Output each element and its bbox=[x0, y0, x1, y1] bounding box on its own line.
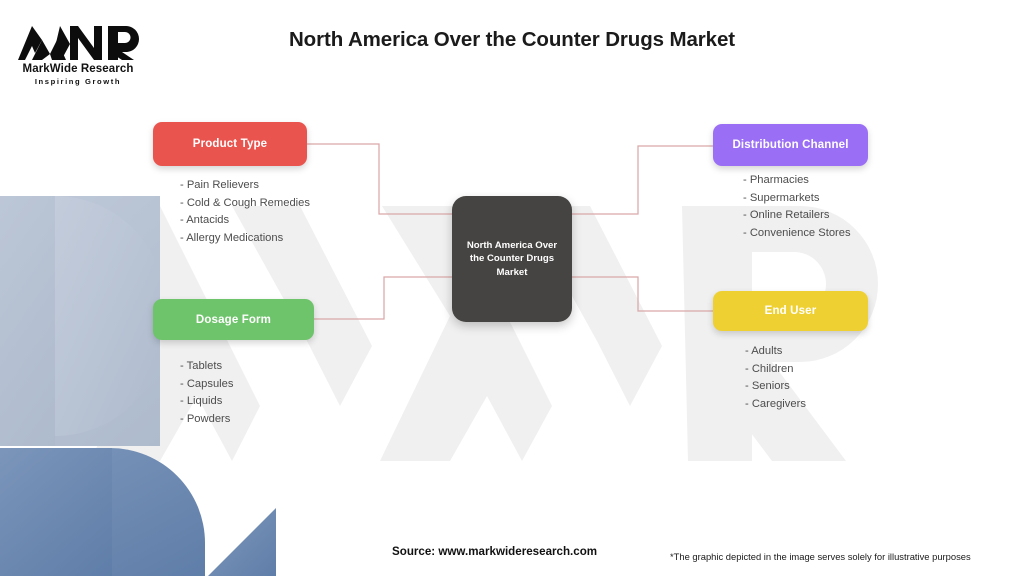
list-item: - Powders bbox=[180, 411, 233, 429]
list-item: - Adults bbox=[745, 343, 806, 361]
list-distribution-channel: - Pharmacies - Supermarkets - Online Ret… bbox=[743, 172, 851, 242]
list-item: - Cold & Cough Remedies bbox=[180, 195, 310, 213]
connector-distribution-channel bbox=[572, 146, 713, 214]
list-item: - Pharmacies bbox=[743, 172, 851, 190]
list-product-type: - Pain Relievers - Cold & Cough Remedies… bbox=[180, 177, 310, 247]
node-product-type-label: Product Type bbox=[193, 138, 267, 150]
source-note[interactable]: Source: www.markwideresearch.com bbox=[392, 545, 597, 558]
list-item: - Children bbox=[745, 361, 806, 379]
decorative-shape-dark bbox=[0, 448, 280, 576]
list-item: - Liquids bbox=[180, 393, 233, 411]
node-center-line-1: North America Over bbox=[467, 239, 557, 253]
connector-product-type bbox=[307, 144, 452, 214]
list-item: - Antacids bbox=[180, 212, 310, 230]
list-dosage-form: - Tablets - Capsules - Liquids - Powders bbox=[180, 358, 233, 428]
connector-end-user bbox=[572, 277, 713, 311]
brand-name: MarkWide Research bbox=[16, 63, 140, 75]
list-item: - Pain Relievers bbox=[180, 177, 310, 195]
list-item: - Convenience Stores bbox=[743, 225, 851, 243]
node-distribution-channel[interactable]: Distribution Channel bbox=[713, 124, 868, 166]
node-dosage-form-label: Dosage Form bbox=[196, 314, 271, 326]
infographic-canvas: MarkWide Research Inspiring Growth North… bbox=[0, 0, 1024, 576]
list-item: - Caregivers bbox=[745, 396, 806, 414]
list-item: - Online Retailers bbox=[743, 207, 851, 225]
page-title: North America Over the Counter Drugs Mar… bbox=[0, 28, 1024, 52]
list-item: - Capsules bbox=[180, 376, 233, 394]
node-dosage-form[interactable]: Dosage Form bbox=[153, 299, 314, 340]
node-end-user-label: End User bbox=[765, 305, 817, 317]
list-item: - Allergy Medications bbox=[180, 230, 310, 248]
list-item: - Supermarkets bbox=[743, 190, 851, 208]
brand-tagline: Inspiring Growth bbox=[16, 77, 140, 86]
decorative-shape-light bbox=[0, 196, 160, 446]
node-end-user[interactable]: End User bbox=[713, 291, 868, 331]
list-end-user: - Adults - Children - Seniors - Caregive… bbox=[745, 343, 806, 413]
node-center-line-3: Market bbox=[497, 266, 528, 280]
node-center-line-2: the Counter Drugs bbox=[470, 252, 554, 266]
node-center-topic[interactable]: North America Over the Counter Drugs Mar… bbox=[452, 196, 572, 322]
node-product-type[interactable]: Product Type bbox=[153, 122, 307, 166]
node-distribution-channel-label: Distribution Channel bbox=[732, 139, 848, 151]
list-item: - Tablets bbox=[180, 358, 233, 376]
list-item: - Seniors bbox=[745, 378, 806, 396]
disclaimer-note: *The graphic depicted in the image serve… bbox=[670, 551, 971, 562]
connector-dosage-form bbox=[314, 277, 452, 319]
